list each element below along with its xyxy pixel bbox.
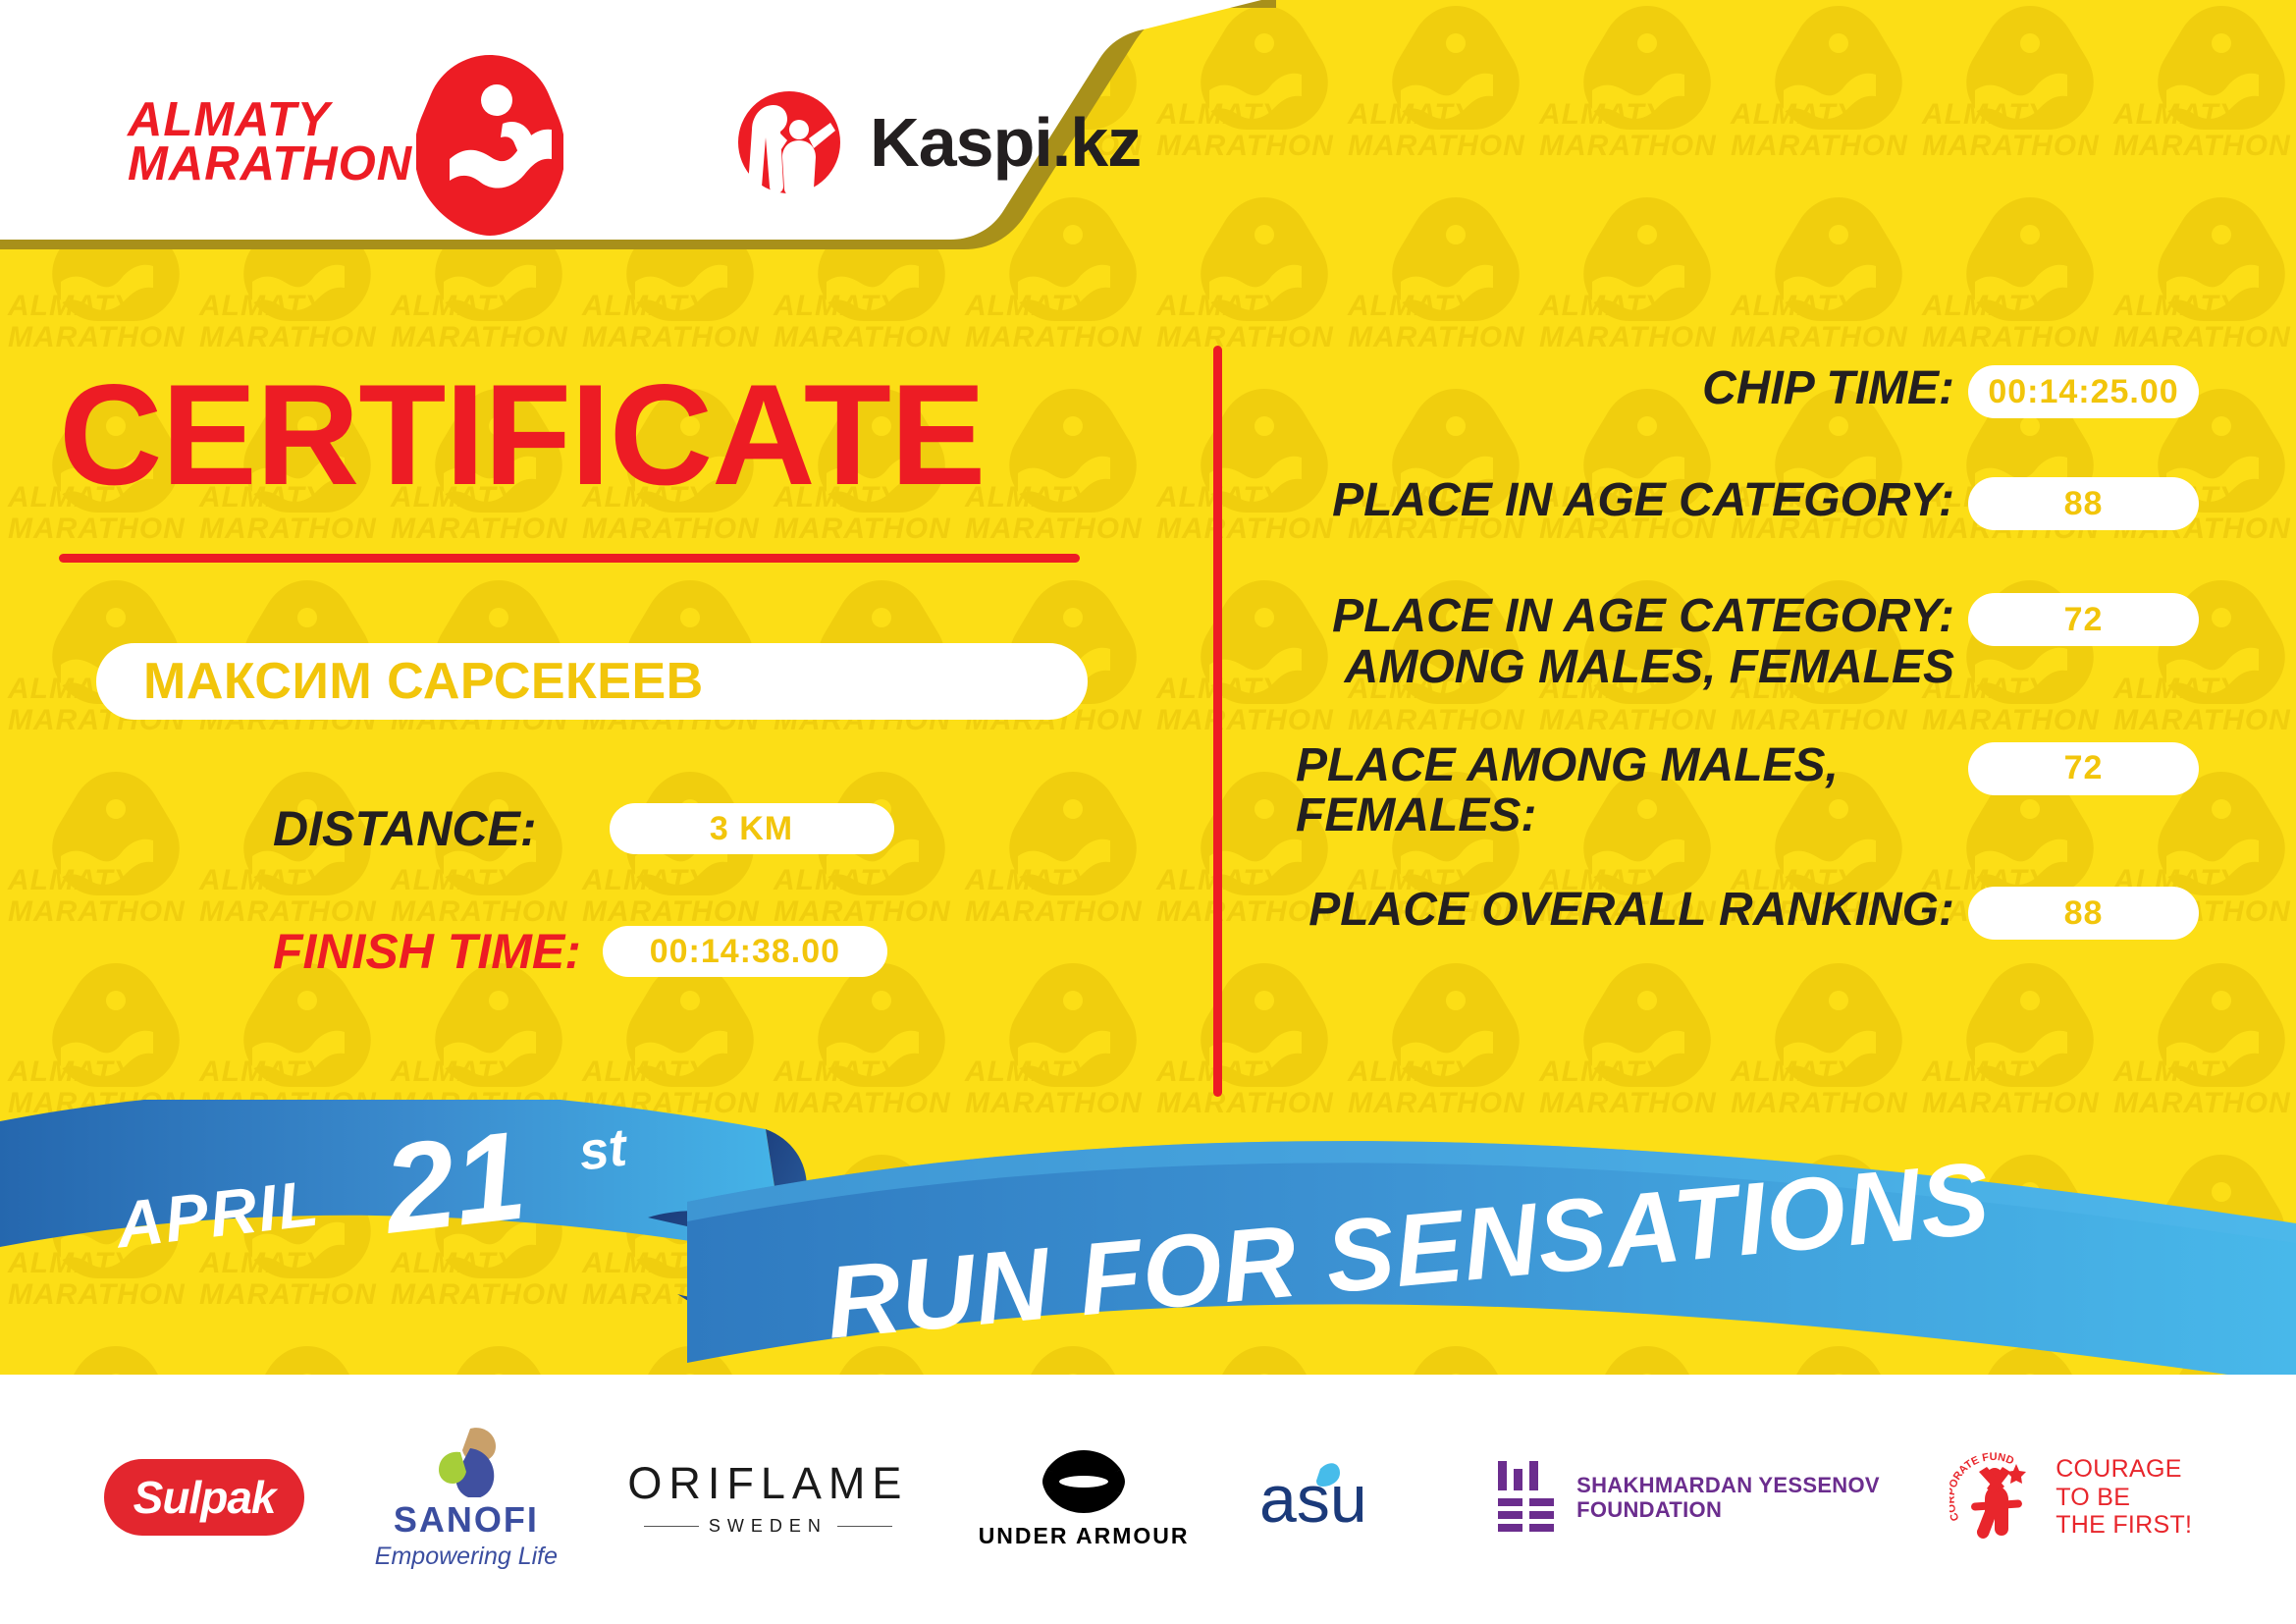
sponsor-courage-fund: CORPORATE FUND COURAGE TO BE THE FIRST!: [1949, 1450, 2192, 1544]
chip-time-value: 00:14:25.00: [1988, 373, 2178, 411]
sponsor-logos: Sulpak SANOFI Empowering Life ORIFLAME S…: [0, 1399, 2296, 1596]
runner-droplet-icon: [416, 49, 563, 236]
oriflame-tagline: SWEDEN: [709, 1516, 828, 1537]
sponsor-sulpak: Sulpak: [104, 1459, 305, 1536]
sponsor-asu: asu: [1259, 1457, 1426, 1538]
place-gender-value: 72: [2064, 749, 2104, 787]
sanofi-mark-icon: [431, 1425, 502, 1497]
sanofi-tagline: Empowering Life: [375, 1543, 558, 1571]
distance-value: 3 KM: [710, 810, 793, 848]
place-age-value-field: 88: [1968, 477, 2199, 530]
distance-label: DISTANCE:: [273, 800, 537, 857]
stat-row-place-gender: PLACE AMONG MALES,FEMALES: 72: [1296, 740, 2199, 842]
oriflame-logo-text: ORIFLAME: [627, 1458, 908, 1509]
place-gender-label: PLACE AMONG MALES,FEMALES:: [1296, 740, 1968, 842]
kaspi-logo: Kaspi.kz: [730, 83, 1141, 201]
place-age-value: 88: [2064, 485, 2104, 523]
ribbon-ordinal: st: [576, 1116, 630, 1182]
courage-line3: THE FIRST!: [2056, 1511, 2192, 1540]
sponsor-yessenov-foundation: SHAKHMARDAN YESSENOV FOUNDATION: [1496, 1459, 1880, 1536]
distance-row: DISTANCE: 3 KM: [273, 800, 894, 857]
title-underline: [59, 554, 1080, 563]
yessenov-logo-text: SHAKHMARDAN YESSENOV: [1576, 1473, 1880, 1497]
under-armour-mark-icon: [1025, 1446, 1143, 1517]
courage-fund-mark-icon: CORPORATE FUND: [1949, 1450, 2044, 1544]
asu-logo-text: asu: [1259, 1462, 1367, 1537]
title-block: CERTIFICATE: [59, 363, 1168, 563]
sponsor-under-armour: UNDER ARMOUR: [979, 1446, 1190, 1549]
kaspi-people-circle-icon: [730, 83, 848, 201]
place-overall-value-field: 88: [1968, 887, 2199, 940]
almaty-logo-line2: MARATHON: [128, 142, 412, 187]
kaspi-logo-text: Kaspi.kz: [870, 103, 1141, 182]
distance-value-field: 3 KM: [610, 803, 894, 854]
courage-line2: TO BE: [2056, 1484, 2192, 1512]
stat-row-place-age: PLACE IN AGE CATEGORY: 88: [1296, 475, 2199, 536]
finish-time-row: FINISH TIME: 00:14:38.00: [273, 923, 887, 980]
certificate-canvas: ALMATY MARATHON ALMATY MARATHON: [0, 0, 2296, 1624]
oriflame-rule-right: [837, 1526, 892, 1527]
under-armour-logo-text: UNDER ARMOUR: [979, 1523, 1190, 1549]
place-age-gender-label: PLACE IN AGE CATEGORY:AMONG MALES, FEMAL…: [1296, 591, 1968, 693]
place-overall-value: 88: [2064, 894, 2104, 933]
stat-row-place-age-gender: PLACE IN AGE CATEGORY:AMONG MALES, FEMAL…: [1296, 591, 2199, 693]
finish-time-value-field: 00:14:38.00: [603, 926, 887, 977]
sponsor-oriflame: ORIFLAME SWEDEN: [627, 1458, 908, 1537]
asu-logo-icon: asu: [1259, 1457, 1426, 1538]
finish-time-label: FINISH TIME:: [273, 923, 581, 980]
participant-name-value: МАКСИМ САРСЕКЕЕВ: [143, 652, 704, 711]
stat-row-place-overall: PLACE OVERALL RANKING: 88: [1296, 885, 2199, 946]
chip-time-value-field: 00:14:25.00: [1968, 365, 2199, 418]
header-logos: ALMATY MARATHON Kaspi.kz: [0, 0, 1178, 285]
sanofi-logo-text: SANOFI: [394, 1499, 539, 1541]
place-overall-label: PLACE OVERALL RANKING:: [1296, 885, 1968, 936]
ribbon-day: 21: [377, 1103, 532, 1262]
page-title: CERTIFICATE: [59, 363, 1168, 507]
almaty-logo-line1: ALMATY: [128, 98, 412, 142]
sulpak-logo-text: Sulpak: [133, 1472, 276, 1523]
place-age-label: PLACE IN AGE CATEGORY:: [1296, 475, 1968, 526]
oriflame-rule-left: [644, 1526, 699, 1527]
place-age-gender-value: 72: [2064, 601, 2104, 639]
sponsor-sanofi: SANOFI Empowering Life: [375, 1425, 558, 1571]
place-age-gender-value-field: 72: [1968, 593, 2199, 646]
almaty-marathon-logo: ALMATY MARATHON: [128, 49, 563, 236]
stats-panel: CHIP TIME: 00:14:25.00 PLACE IN AGE CATE…: [1296, 363, 2199, 983]
yessenov-tagline: FOUNDATION: [1576, 1497, 1880, 1522]
courage-line1: COURAGE: [2056, 1455, 2192, 1484]
yessenov-mark-icon: [1496, 1459, 1559, 1536]
courage-lines: COURAGE TO BE THE FIRST!: [2056, 1455, 2192, 1540]
participant-name-field: МАКСИМ САРСЕКЕЕВ: [96, 643, 1088, 720]
finish-time-value: 00:14:38.00: [650, 933, 840, 971]
chip-time-label: CHIP TIME:: [1296, 363, 1968, 414]
stat-row-chip-time: CHIP TIME: 00:14:25.00: [1296, 363, 2199, 424]
place-gender-value-field: 72: [1968, 742, 2199, 795]
vertical-divider: [1213, 346, 1222, 1097]
